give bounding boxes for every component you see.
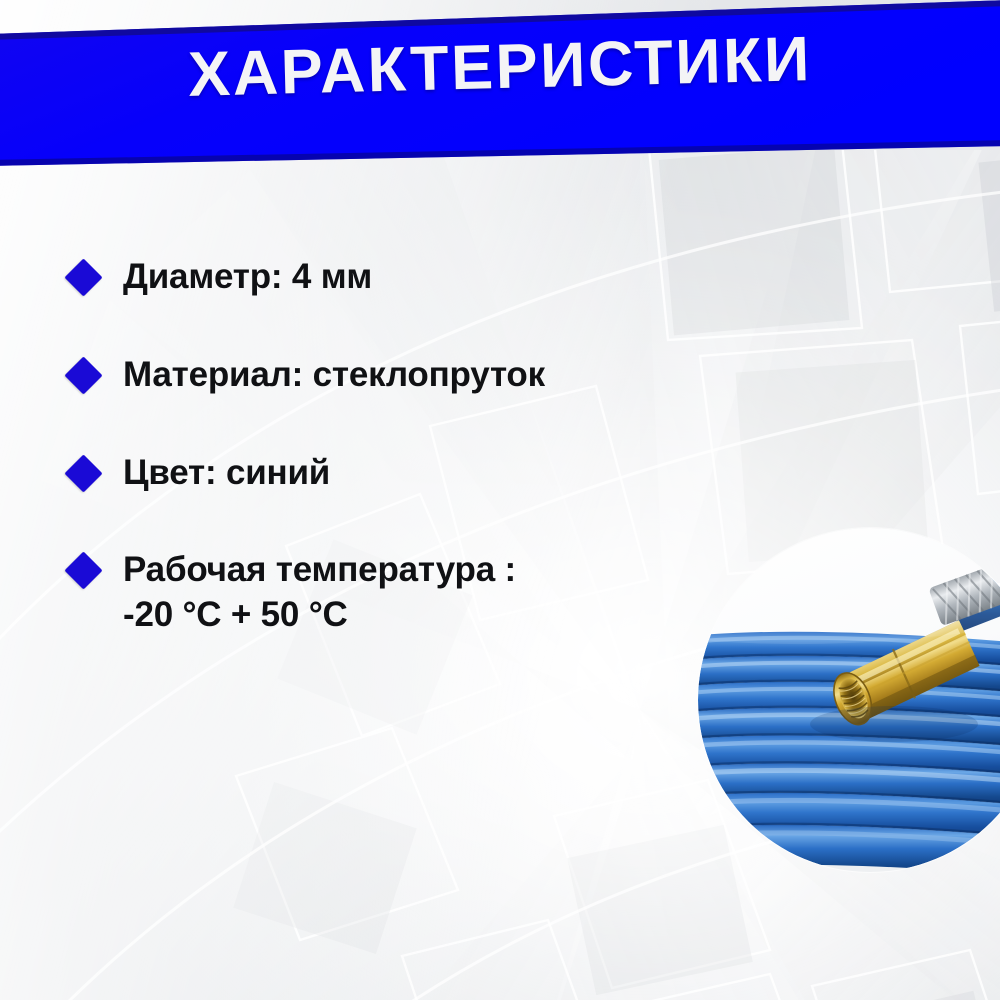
spec-temperature-line2: -20 °C + 50 °C [123,593,730,638]
spec-material: Материал: стеклопруток [123,353,730,398]
list-item: Рабочая температура : -20 °C + 50 °C [70,548,730,638]
blue-diamond-bullet-icon [64,454,102,492]
spec-temperature: Рабочая температура : -20 °C + 50 °C [123,548,730,638]
list-item: Цвет: синий [70,451,730,496]
product-spec-card: ХАРАКТЕРИСТИКИ Диаметр: 4 мм Материал: с… [0,0,1000,1000]
blue-diamond-bullet-icon [64,552,102,590]
blue-diamond-bullet-icon [64,258,102,296]
list-item: Материал: стеклопруток [70,353,730,398]
list-item: Диаметр: 4 мм [70,255,730,300]
spec-list: Диаметр: 4 мм Материал: стеклопруток Цве… [70,255,730,638]
spec-diameter: Диаметр: 4 мм [123,255,730,300]
blue-diamond-bullet-icon [64,356,102,394]
spec-color: Цвет: синий [123,451,730,496]
spec-temperature-line1: Рабочая температура : [123,550,516,589]
